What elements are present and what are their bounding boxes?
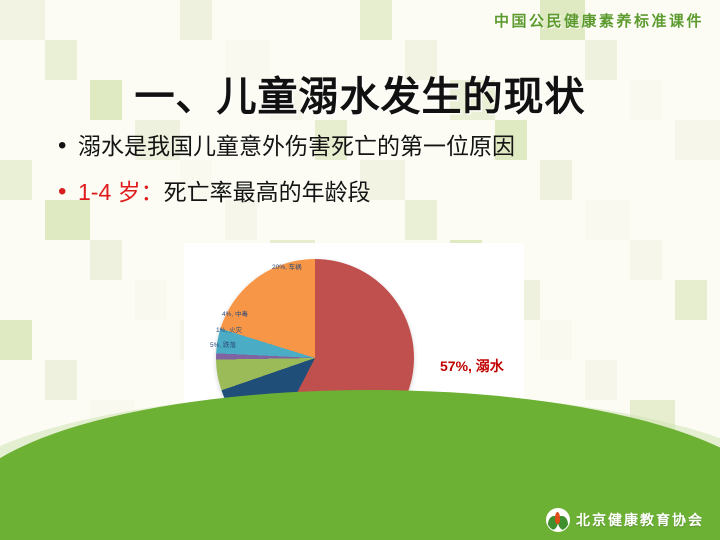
pie-slice-label: 5%, 跌落 <box>210 341 236 350</box>
bullet-text-1: 溺水是我国儿童意外伤害死亡的第一位原因 <box>78 130 515 162</box>
footer-logo: 北京健康教育协会 <box>546 508 704 532</box>
slide-canvas: 中国公民健康素养标准课件 一、儿童溺水发生的现状 • 溺水是我国儿童意外伤害死亡… <box>0 0 720 540</box>
bullet-item-2: • 1-4 岁：死亡率最高的年龄段 <box>58 176 678 208</box>
pie-slice-label: 20%, 车祸 <box>272 263 302 272</box>
bullet-text-2-accent: 1-4 岁： <box>78 179 164 205</box>
page-title: 一、儿童溺水发生的现状 <box>0 64 720 122</box>
bullet-text-2: 1-4 岁：死亡率最高的年龄段 <box>78 176 371 208</box>
pie-slice-label: 1%, 火灾 <box>216 326 242 335</box>
bullet-item-1: • 溺水是我国儿童意外伤害死亡的第一位原因 <box>58 130 678 162</box>
course-kicker: 中国公民健康素养标准课件 <box>494 10 704 31</box>
leaf-flame-logo-icon <box>546 508 570 532</box>
bullet-text-2-rest: 死亡率最高的年龄段 <box>164 179 371 205</box>
bullet-dot-icon: • <box>58 176 78 208</box>
bullet-dot-icon: • <box>58 130 78 162</box>
pie-slice-label: 4%, 中毒 <box>222 310 248 319</box>
organization-name: 北京健康教育协会 <box>576 510 704 530</box>
bullet-list: • 溺水是我国儿童意外伤害死亡的第一位原因 • 1-4 岁：死亡率最高的年龄段 <box>58 130 678 222</box>
pie-main-label: 57%, 溺水 <box>440 356 504 376</box>
